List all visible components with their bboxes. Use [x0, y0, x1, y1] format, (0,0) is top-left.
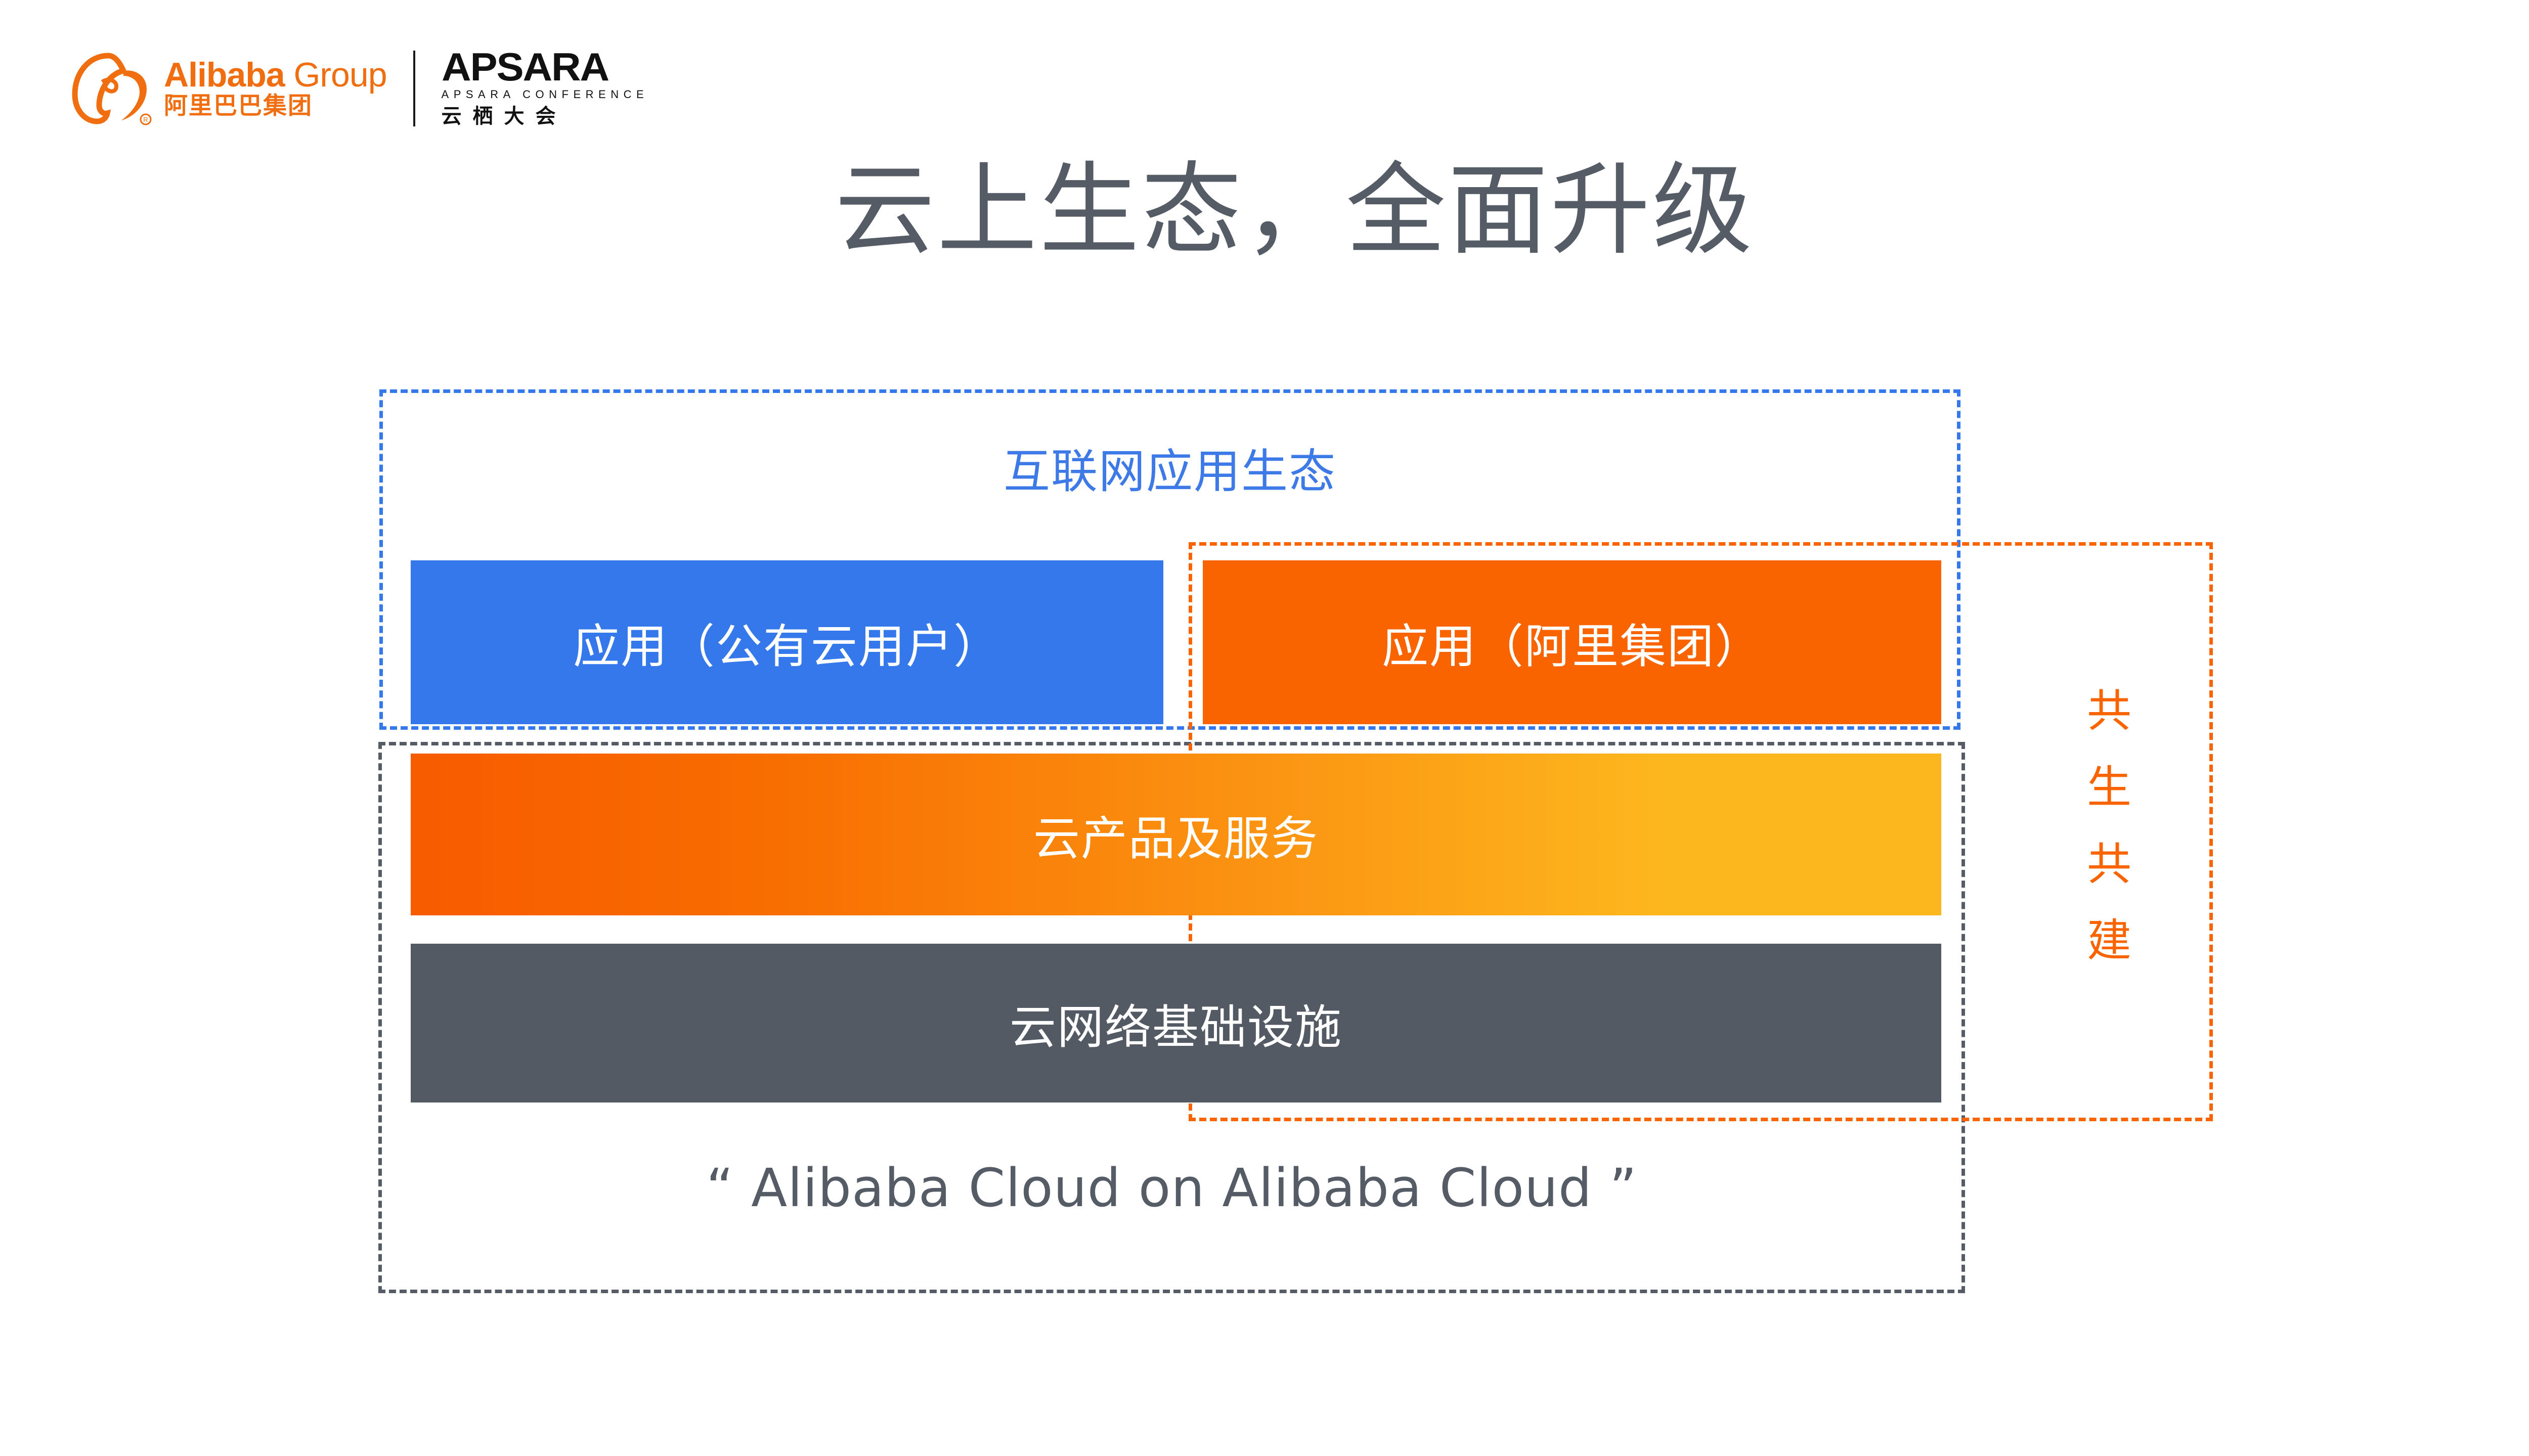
apsara-wordmark-cn: 云栖大会	[442, 104, 649, 129]
layer-app-alibaba-group: 应用（阿里集团）	[1203, 560, 1941, 724]
symbiosis-vertical-label: 共 生 共 建	[2059, 673, 2160, 979]
svg-text:R: R	[143, 116, 148, 123]
alibaba-smile-mark: R	[71, 51, 156, 126]
alibaba-group-logo: R Alibaba Group 阿里巴巴集团	[71, 51, 387, 126]
apsara-wordmark: APSARA	[442, 48, 657, 85]
symbiosis-char-4: 建	[2087, 902, 2131, 979]
symbiosis-char-3: 共	[2087, 826, 2131, 902]
slide-quote: “ Alibaba Cloud on Alibaba Cloud ”	[378, 1157, 1965, 1219]
alibaba-name-text: Alibaba	[164, 56, 285, 94]
vertical-divider-icon	[413, 51, 415, 126]
slide-canvas: R Alibaba Group 阿里巴巴集团 APSARA APSARA CON…	[0, 0, 2529, 1456]
symbiosis-char-1: 共	[2087, 673, 2131, 749]
ecosystem-frame-label: 互联网应用生态	[379, 434, 1960, 501]
alibaba-wordmark: Alibaba Group 阿里巴巴集团	[164, 57, 387, 119]
page-title: 云上生态，全面升级	[0, 129, 2529, 274]
alibaba-wordmark-en: Alibaba Group	[164, 57, 387, 93]
layer-app-public-cloud: 应用（公有云用户）	[411, 560, 1163, 724]
layer-cloud-network-infrastructure: 云网络基础设施	[411, 944, 1941, 1102]
brand-logo-bar: R Alibaba Group 阿里巴巴集团 APSARA APSARA CON…	[71, 46, 648, 131]
alibaba-wordmark-cn: 阿里巴巴集团	[164, 93, 387, 120]
layer-cloud-products-services: 云产品及服务	[411, 754, 1941, 915]
apsara-conference-logo: APSARA APSARA CONFERENCE 云栖大会	[442, 48, 649, 128]
symbiosis-char-2: 生	[2087, 749, 2131, 825]
alibaba-group-text: Group	[294, 56, 387, 94]
